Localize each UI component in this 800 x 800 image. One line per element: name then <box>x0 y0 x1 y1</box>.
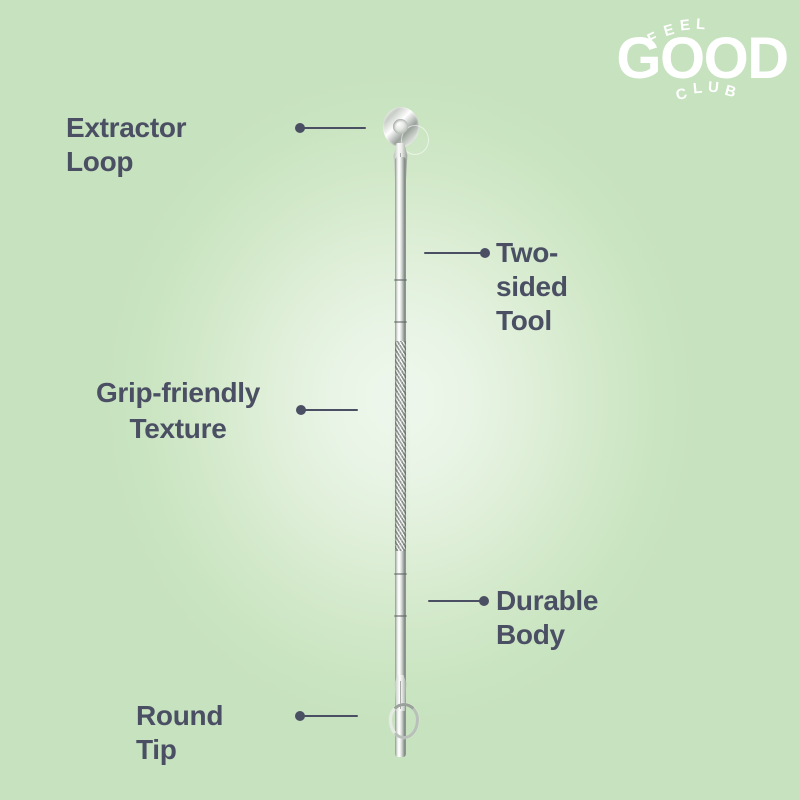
grip-edge-shadow-right <box>404 341 406 551</box>
brand-logo-club-arc: C L U B <box>614 76 790 106</box>
leader-line-extractor-loop <box>304 127 366 129</box>
shaft-ring-mark <box>394 615 407 617</box>
product-part-round-tip <box>389 703 419 739</box>
shaft-ring-mark <box>394 321 407 323</box>
shaft-ring-mark <box>394 279 407 281</box>
brand-logo: F E E L GOOD C L U B <box>614 10 790 106</box>
leader-dot-two-sided-tool <box>480 248 490 258</box>
callout-label-two-sided-tool: Two-sided Tool <box>496 236 568 338</box>
leader-line-durable-body <box>428 600 482 602</box>
callout-label-durable-body: Durable Body <box>496 584 598 652</box>
callout-label-extractor-loop: Extractor Loop <box>66 111 186 179</box>
product-infographic: F E E L GOOD C L U B E <box>0 0 800 800</box>
leader-line-round-tip <box>304 715 358 717</box>
product-part-extractor-loop <box>383 107 419 147</box>
shaft-ring-mark <box>394 573 407 575</box>
product-image-extractor-tool <box>370 95 432 745</box>
leader-line-grip-friendly-texture <box>305 409 358 411</box>
grip-edge-shadow-left <box>395 341 397 551</box>
callout-label-round-tip: Round Tip <box>136 699 223 767</box>
leader-dot-durable-body <box>479 596 489 606</box>
leader-line-two-sided-tool <box>424 252 482 254</box>
callout-label-grip-friendly-texture: Grip-friendly Texture <box>78 375 278 447</box>
